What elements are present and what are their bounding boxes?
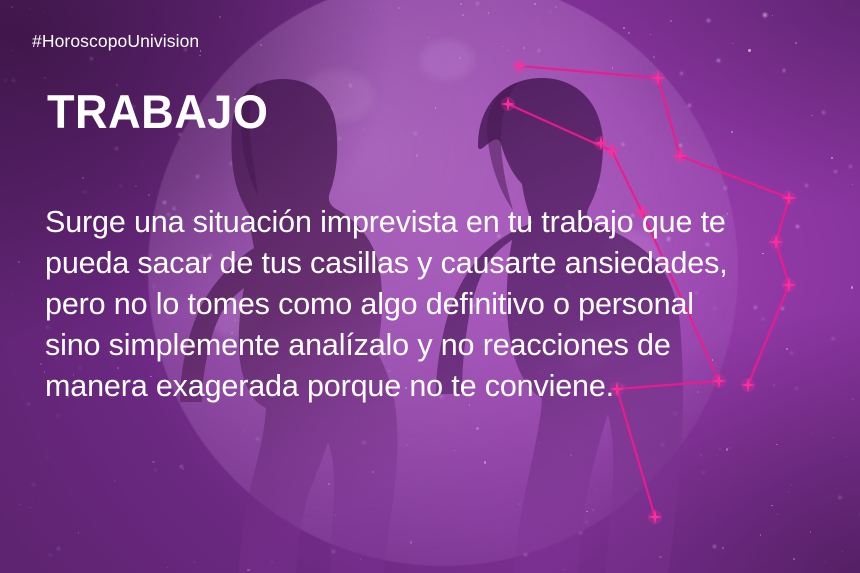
body-text-line: manera exagerada porque no te conviene. [45, 366, 815, 407]
body-text-line: pero no lo tomes como algo definitivo o … [45, 284, 815, 325]
text-content: #HoroscopoUnivision TRABAJO Surge una si… [0, 0, 860, 573]
page-title: TRABAJO [47, 88, 268, 135]
body-text-line: sino simplemente analízalo y no reaccion… [45, 325, 815, 366]
horoscope-body-text: Surge una situación imprevista en tu tra… [45, 202, 815, 407]
horoscope-card: #HoroscopoUnivision TRABAJO Surge una si… [0, 0, 860, 573]
body-text-line: pueda sacar de tus casillas y causarte a… [45, 243, 815, 284]
hashtag-label: #HoroscopoUnivision [32, 31, 199, 52]
body-text-line: Surge una situación imprevista en tu tra… [45, 202, 815, 243]
